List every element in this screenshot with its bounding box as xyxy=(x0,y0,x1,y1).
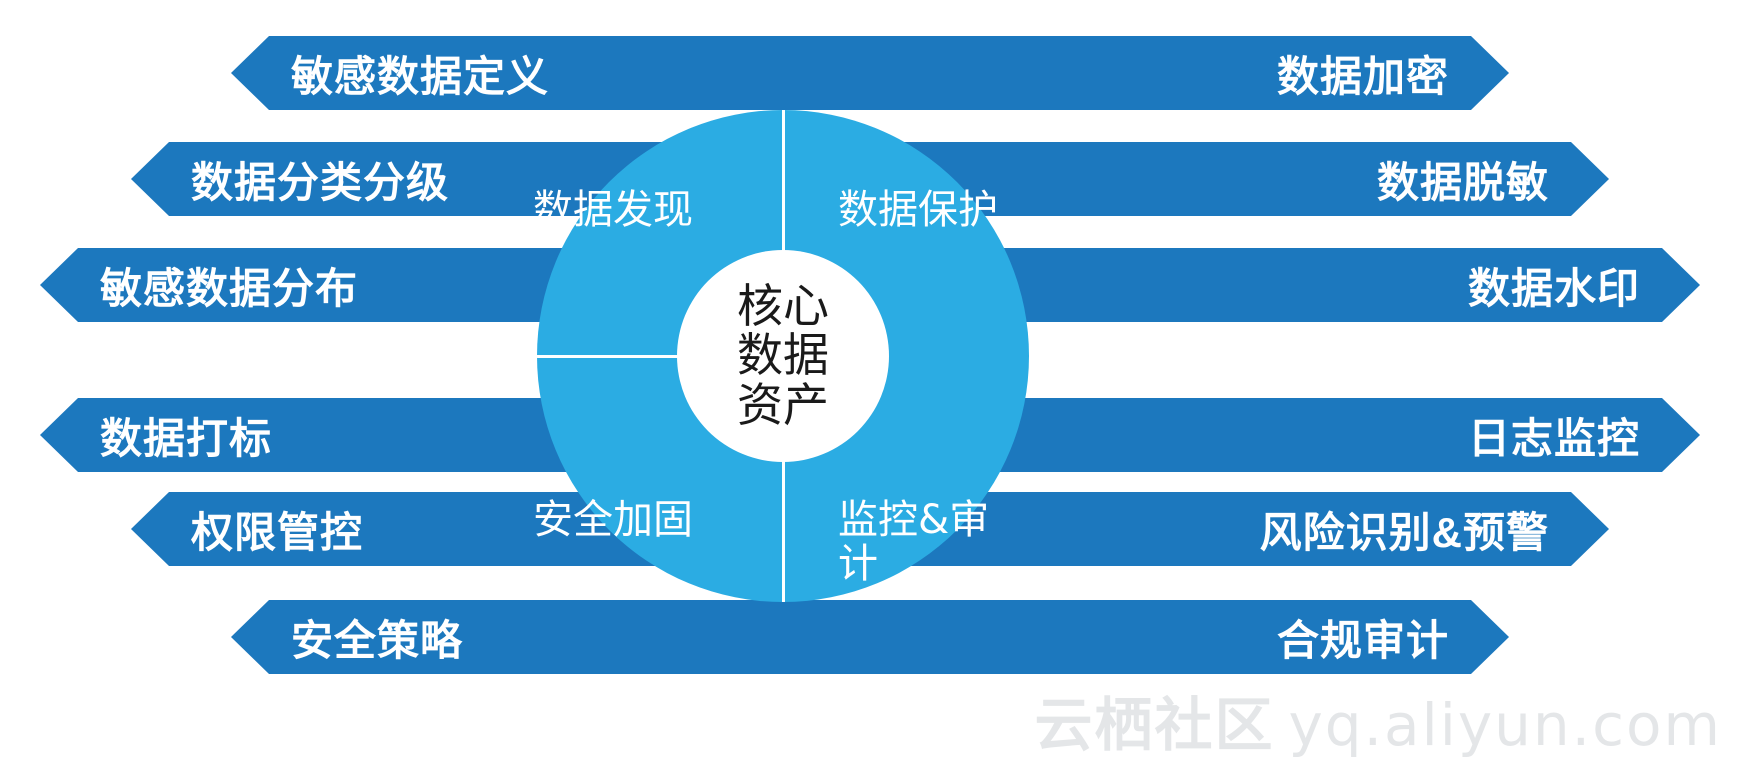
quadrant-label-monitor-audit[interactable]: 监控&审 计 xyxy=(838,498,989,586)
left-item-0-label: 敏感数据定义 xyxy=(291,43,549,104)
left-item-1-label: 数据分类分级 xyxy=(191,149,449,210)
core-hub: 核心 数据 资产 xyxy=(677,250,889,462)
hub-line-0: 核心 xyxy=(737,282,829,331)
diagram-canvas: 敏感数据定义 数据分类分级 敏感数据分布 数据打标 权限管控 安全策略 数据加密… xyxy=(0,0,1740,782)
right-item-0[interactable]: 数据加密 xyxy=(766,36,1509,110)
left-item-4-label: 权限管控 xyxy=(191,499,363,560)
left-item-0[interactable]: 敏感数据定义 xyxy=(231,36,800,110)
left-item-3-label: 数据打标 xyxy=(100,405,272,466)
left-item-5[interactable]: 安全策略 xyxy=(231,600,800,674)
quadrant-label-data-protection[interactable]: 数据保护 xyxy=(838,188,998,232)
left-item-5-label: 安全策略 xyxy=(291,607,463,668)
watermark-site-name: 云栖社区 xyxy=(1034,691,1274,759)
quadrant-label-data-discovery[interactable]: 数据发现 xyxy=(533,188,693,232)
right-item-0-label: 数据加密 xyxy=(1277,43,1449,104)
right-item-2-label: 数据水印 xyxy=(1468,255,1640,316)
watermark-url: yq.aliyun.com xyxy=(1288,691,1722,759)
quadrant-label-security-hardening[interactable]: 安全加固 xyxy=(533,498,693,542)
watermark: 云栖社区yq.aliyun.com xyxy=(1034,678,1722,762)
right-item-3-label: 日志监控 xyxy=(1468,405,1640,466)
right-item-5[interactable]: 合规审计 xyxy=(766,600,1509,674)
right-item-4-label: 风险识别&预警 xyxy=(1260,499,1549,560)
right-item-1-label: 数据脱敏 xyxy=(1377,149,1549,210)
right-item-5-label: 合规审计 xyxy=(1277,607,1449,668)
hub-line-1: 数据 xyxy=(737,331,829,380)
hub-line-2: 资产 xyxy=(737,381,829,430)
left-item-2-label: 敏感数据分布 xyxy=(100,255,358,316)
